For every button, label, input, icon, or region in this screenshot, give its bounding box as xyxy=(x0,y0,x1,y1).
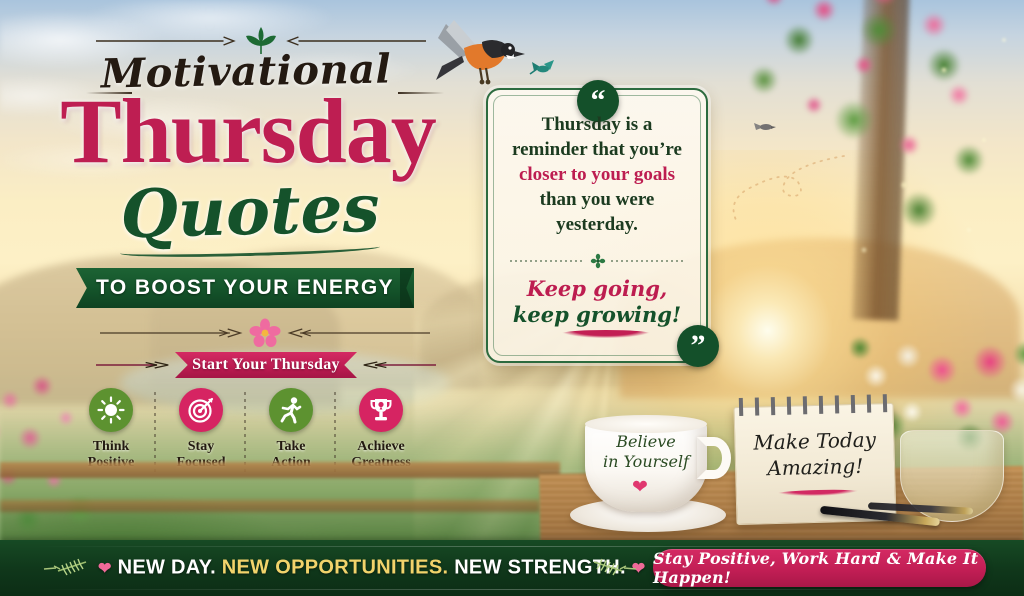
quote-cta-underline xyxy=(560,330,652,338)
banner-hairline-bottom xyxy=(36,589,988,590)
leaf-branch-icon-right xyxy=(588,558,640,578)
notepad-line2: Amazing! xyxy=(767,454,864,481)
cta-pill-button[interactable]: Stay Positive, Work Hard & Make It Happe… xyxy=(653,549,986,587)
bottom-banner: ❤ NEW DAY. NEW OPPORTUNITIES. NEW STRENG… xyxy=(0,540,1024,596)
cup-rim xyxy=(585,415,707,433)
page-title: Thursday xyxy=(28,88,468,175)
deck-railing-lower xyxy=(0,500,540,512)
quote-line-4: yesterday. xyxy=(556,214,638,235)
quote-line-1: Thursday is a xyxy=(542,114,653,135)
benefit-label-line1: Achieve xyxy=(357,439,404,454)
quote-line-2: reminder that you’re xyxy=(512,139,682,160)
quote-cta-line1: Keep going, xyxy=(527,276,667,301)
section-arrow-right xyxy=(357,361,436,369)
heart-icon: ❤ xyxy=(632,478,652,496)
section-ribbon: Start Your Thursday xyxy=(175,352,357,378)
heart-icon-left: ❤ xyxy=(98,561,112,578)
quote-cta: Keep going, keep growing! xyxy=(495,276,699,329)
quote-cta-line2: keep growing! xyxy=(513,302,681,327)
leaf-branch-icon-left xyxy=(40,558,92,578)
pink-flower-ornament xyxy=(249,318,281,348)
quote-line-3: than you were xyxy=(540,189,655,210)
close-quote-badge: ” xyxy=(677,325,719,367)
cup-text: Believe in Yourself xyxy=(588,432,704,472)
small-bird-icon xyxy=(752,118,778,136)
banner-part-1: NEW DAY. xyxy=(118,557,216,579)
flower-arrow-right xyxy=(281,328,430,338)
section-arrow-left xyxy=(96,361,175,369)
energy-ribbon: TO BOOST YOUR ENERGY xyxy=(76,268,414,308)
flower-divider-icon xyxy=(591,254,605,268)
banner-text: ❤ NEW DAY. NEW OPPORTUNITIES. NEW STRENG… xyxy=(98,557,645,580)
flower-ornament-row xyxy=(100,318,430,348)
divider-line-left xyxy=(510,260,585,262)
section-ribbon-row: Start Your Thursday xyxy=(96,352,436,378)
sun-icon xyxy=(89,388,133,432)
flower-arrow-left xyxy=(100,328,249,338)
cup-line2: in Yourself xyxy=(603,452,689,471)
cup-line1: Believe xyxy=(616,432,675,451)
ornament-arrow-left xyxy=(96,36,240,46)
hummingbird-icon xyxy=(528,58,556,80)
quote-divider xyxy=(510,255,686,267)
trophy-icon xyxy=(359,388,403,432)
notepad-text: Make Today Amazing! xyxy=(737,426,892,482)
banner-hairline-top xyxy=(36,546,988,547)
benefit-label-line1: Stay xyxy=(188,439,214,454)
benefit-label-line1: Think xyxy=(93,439,130,454)
notepad-line1: Make Today xyxy=(753,427,876,454)
target-icon xyxy=(179,388,223,432)
benefit-label-line1: Take xyxy=(276,439,305,454)
motivational-poster: Motivational Thursday Quotes TO BOOST YO… xyxy=(0,0,1024,596)
banner-part-2: NEW OPPORTUNITIES. xyxy=(222,557,449,579)
deck-railing xyxy=(0,462,560,478)
subtitle: Quotes xyxy=(59,173,441,249)
quote-text: Thursday is a reminder that you’re close… xyxy=(495,112,699,237)
runner-icon xyxy=(269,388,313,432)
dotted-trail-icon xyxy=(728,150,848,230)
quote-highlight: closer to your goals xyxy=(519,164,675,185)
divider-line-right xyxy=(611,260,686,262)
